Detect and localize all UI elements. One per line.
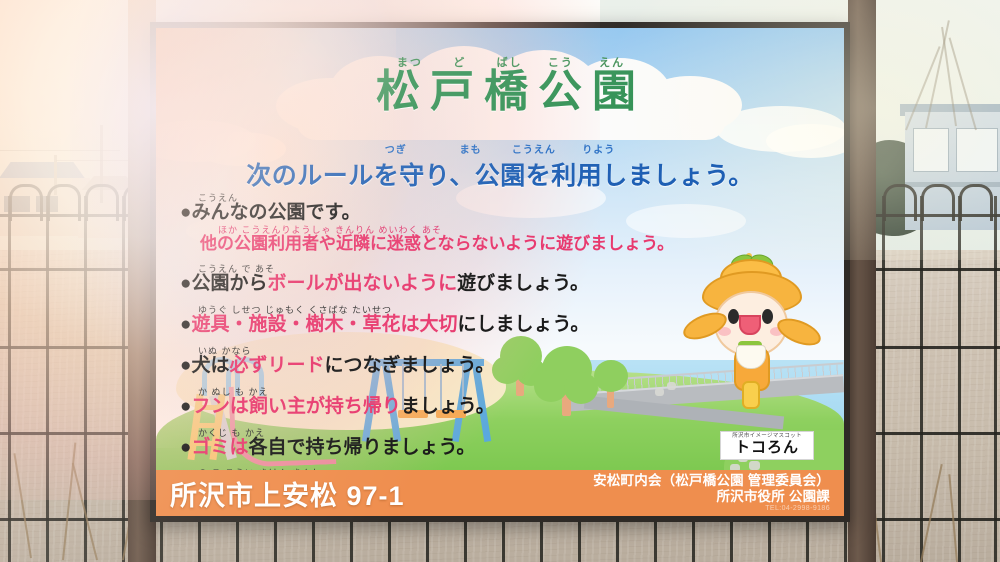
subtitle-furigana-tsugi: つぎ	[385, 145, 407, 156]
rule-bullet: ●	[180, 437, 191, 458]
rule-segment: ゴミは	[191, 437, 248, 458]
signboard-title: まつ ど ばし こう えん 松戸橋公園	[296, 58, 726, 115]
apartment-window	[956, 128, 998, 172]
signboard-footer: 所沢市上安松 97-1 安松町内会（松戸橋公園 管理委員会） 所沢市役所 公園課…	[156, 470, 844, 516]
rule-bullet: ●	[180, 396, 191, 417]
rule-bullet: ●	[180, 314, 191, 335]
rule-text: ●みんなの公園です。	[180, 203, 840, 223]
mascot-name-label: 所沢市イメージマスコット トコろん	[720, 431, 814, 460]
rule-segment: 各自で持ち帰りましょう。	[249, 437, 476, 458]
rule-segment: 必ずリード	[230, 355, 325, 376]
mascot-caption-name: トコろん	[721, 440, 813, 457]
signboard-panel: まつ ど ばし こう えん 松戸橋公園 つぎ	[156, 28, 844, 516]
org-telephone: TEL:04-2998-9186	[593, 505, 830, 513]
managing-organisation: 安松町内会（松戸橋公園 管理委員会） 所沢市役所 公園課 TEL:04-2998…	[593, 473, 830, 513]
rule-segment: ましょう。	[401, 396, 495, 417]
signboard-frame: まつ ど ばし こう えん 松戸橋公園 つぎ	[150, 22, 850, 522]
rule-subline-segment: 他の公園利用者や近隣に迷惑とならないように遊びましょう。	[200, 234, 674, 253]
signboard-subtitle: つぎ まも こうえん りよう 次のルールを守り、公園を利用しましょう。	[156, 146, 844, 192]
rule-item: こうえん●みんなの公園です。ほか こうえんりようしゃ きんりん めいわく あそ他…	[180, 193, 840, 253]
subtitle-furigana-kouen: こうえん	[512, 145, 556, 156]
subtitle-furigana-mamo: まも	[460, 145, 482, 156]
rule-segment: につなぎましょう。	[325, 355, 495, 376]
park-name: 松戸橋公園	[296, 69, 726, 115]
rule-segment: 犬は	[191, 355, 229, 376]
org-line-2: 所沢市役所 公園課	[593, 489, 830, 505]
rule-bullet: ●	[180, 202, 191, 223]
rule-segment: にしましょう。	[458, 314, 590, 335]
subtitle-text: 次のルールを守り、公園を利用しましょう。	[156, 156, 844, 192]
rule-bullet: ●	[180, 355, 191, 376]
park-address: 所沢市上安松 97-1	[170, 474, 405, 513]
power-wire	[0, 150, 120, 151]
rule-segment: フンは飼い主が持ち帰り	[191, 396, 400, 417]
mascot-tokoron	[684, 253, 814, 403]
screenshot-scene: まつ ど ばし こう えん 松戸橋公園 つぎ	[0, 0, 1000, 562]
rule-segment: 公園から	[191, 273, 267, 294]
rule-segment: ボールが出ないように	[268, 273, 458, 294]
sign-post-right	[848, 0, 876, 562]
org-line-1: 安松町内会（松戸橋公園 管理委員会）	[593, 473, 830, 489]
rule-bullet: ●	[180, 273, 191, 294]
rule-segment: みんなの公園です。	[191, 202, 360, 223]
subtitle-furigana-riyou: りよう	[582, 145, 615, 156]
rule-subline: ほか こうえんりようしゃ きんりん めいわく あそ他の公園利用者や近隣に迷惑とな…	[200, 225, 840, 253]
rule-subline-text: 他の公園利用者や近隣に迷惑とならないように遊びましょう。	[200, 235, 840, 253]
rule-segment: 遊びましょう。	[457, 273, 589, 294]
rule-segment: 遊具・施設・樹木・草花は大切	[191, 314, 457, 335]
apartment-window	[913, 128, 949, 172]
